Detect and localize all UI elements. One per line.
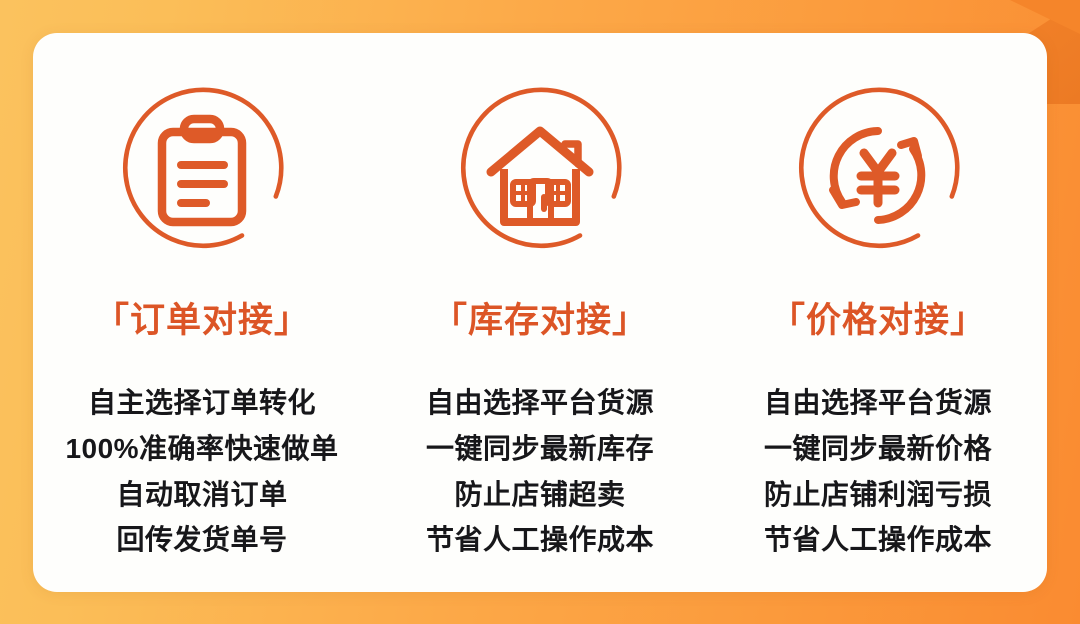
list-item: 节省人工操作成本	[426, 521, 654, 559]
corner-fold-highlight	[1010, 0, 1080, 34]
feature-column-inventory: 「库存对接」 自由选择平台货源 一键同步最新库存 防止店铺超卖 节省人工操作成本	[371, 69, 709, 592]
list-item: 一键同步最新价格	[764, 430, 992, 468]
list-item: 节省人工操作成本	[764, 521, 992, 559]
price-sync-yuan-icon	[772, 69, 984, 281]
clipboard-icon	[96, 69, 308, 281]
feature-column-order: 「订单对接」 自主选择订单转化 100%准确率快速做单 自动取消订单 回传发货单…	[33, 69, 371, 592]
list-item: 自动取消订单	[116, 476, 287, 514]
list-item: 100%准确率快速做单	[65, 430, 338, 468]
list-item: 自由选择平台货源	[426, 384, 654, 422]
column-title: 「库存对接」	[432, 303, 648, 338]
feature-columns: 「订单对接」 自主选择订单转化 100%准确率快速做单 自动取消订单 回传发货单…	[33, 33, 1047, 592]
column-text-list: 自由选择平台货源 一键同步最新库存 防止店铺超卖 节省人工操作成本	[426, 384, 654, 559]
feature-column-price: 「价格对接」 自由选择平台货源 一键同步最新价格 防止店铺利润亏损 节省人工操作…	[709, 69, 1047, 592]
list-item: 防止店铺利润亏损	[764, 476, 992, 514]
list-item: 自主选择订单转化	[88, 384, 316, 422]
list-item: 自由选择平台货源	[764, 384, 992, 422]
list-item: 回传发货单号	[116, 521, 287, 559]
warehouse-house-icon	[434, 69, 646, 281]
column-title: 「价格对接」	[770, 303, 986, 338]
poster-canvas: 「订单对接」 自主选择订单转化 100%准确率快速做单 自动取消订单 回传发货单…	[0, 0, 1080, 624]
feature-card: 「订单对接」 自主选择订单转化 100%准确率快速做单 自动取消订单 回传发货单…	[33, 33, 1047, 592]
list-item: 防止店铺超卖	[454, 476, 625, 514]
column-title: 「订单对接」	[94, 303, 310, 338]
column-text-list: 自主选择订单转化 100%准确率快速做单 自动取消订单 回传发货单号	[65, 384, 338, 559]
column-text-list: 自由选择平台货源 一键同步最新价格 防止店铺利润亏损 节省人工操作成本	[764, 384, 992, 559]
list-item: 一键同步最新库存	[426, 430, 654, 468]
